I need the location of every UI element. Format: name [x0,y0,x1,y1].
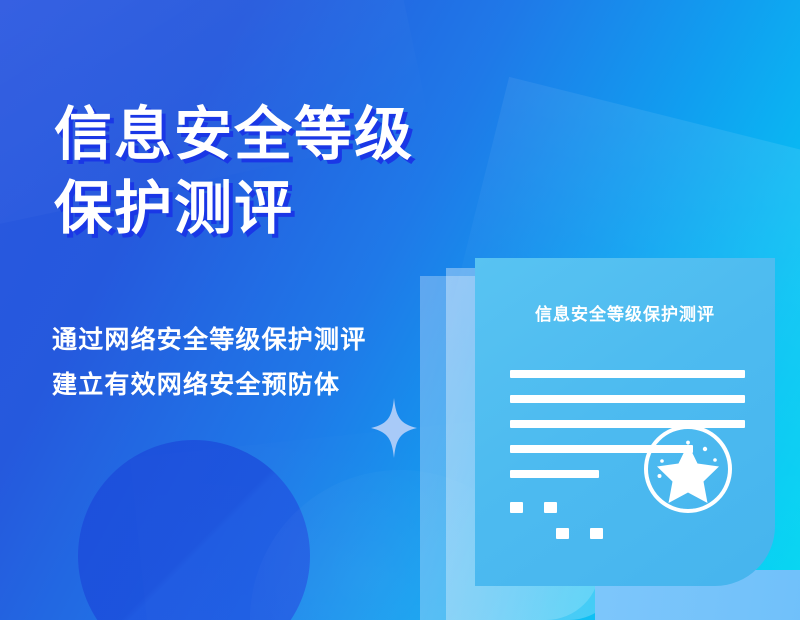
certificate-illustration: 信息安全等级保护测评 [420,258,800,620]
headline: 信息安全等级 保护测评 [54,98,574,246]
subtitle-line-1: 通过网络安全等级保护测评 [52,318,472,363]
certificate-body-line [510,470,599,478]
subtitle: 通过网络安全等级保护测评 建立有效网络安全预防体 [52,318,472,408]
promo-banner: 信息安全等级 保护测评 通过网络安全等级保护测评 建立有效网络安全预防体 信息安… [0,0,800,620]
certificate-body-line [510,370,745,378]
certificate-dot [510,502,523,513]
certificate-dot [556,528,569,539]
certificate-dot [590,528,603,539]
certificate-dot [544,502,557,513]
headline-line-1: 信息安全等级 [54,98,574,172]
certificate-body-line [510,395,745,403]
subtitle-line-2: 建立有效网络安全预防体 [52,363,472,408]
headline-line-2: 保护测评 [54,172,574,246]
star-seal-icon [641,422,735,516]
